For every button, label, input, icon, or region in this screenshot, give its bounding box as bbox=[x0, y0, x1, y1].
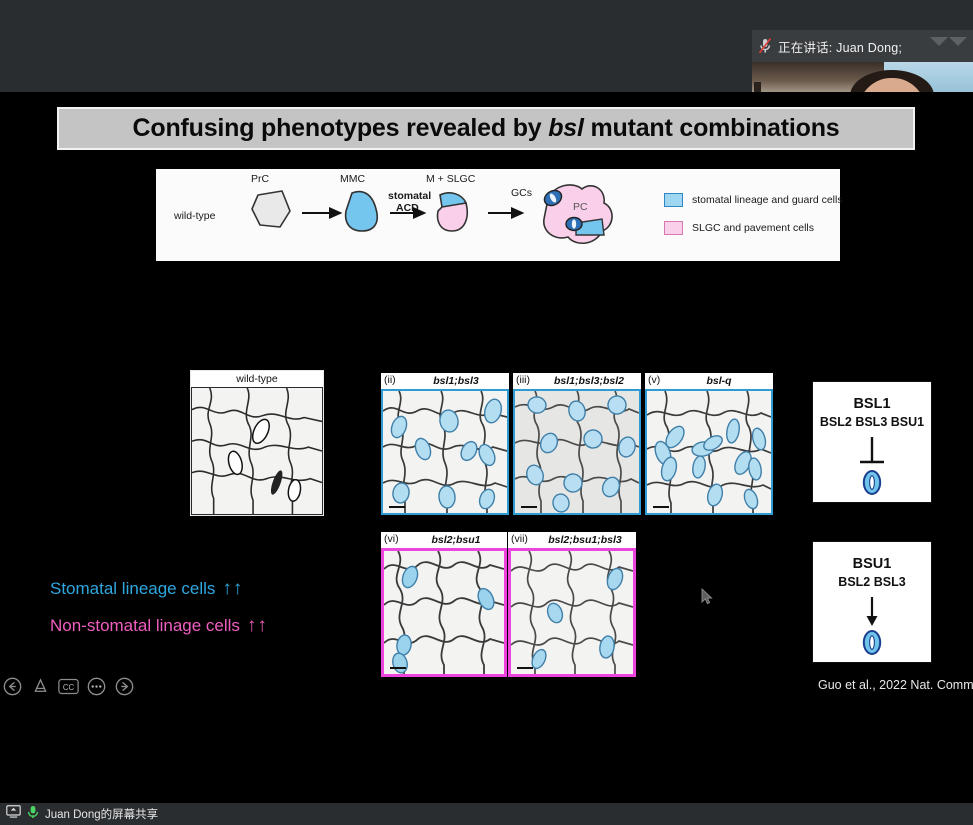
legend-label-stomatal: stomatal lineage and guard cells bbox=[692, 194, 843, 206]
mouse-pointer-icon bbox=[701, 588, 714, 611]
cell-network-drawing bbox=[384, 551, 504, 677]
scale-bar bbox=[390, 667, 406, 669]
chevron-collapse-icon[interactable] bbox=[930, 30, 967, 62]
micrograph-image-vii bbox=[508, 548, 636, 677]
bullet-text-nonstomatal: Non-stomatal linage cells bbox=[50, 616, 240, 635]
pen-annotation-icon[interactable] bbox=[30, 676, 51, 697]
legend-swatch-stomatal bbox=[664, 193, 683, 207]
cell-network-drawing bbox=[192, 388, 322, 514]
micrograph-genotype-vii: bsl2;bsu1;bsl3 bbox=[508, 534, 636, 546]
presentation-controls: CC bbox=[2, 676, 135, 697]
legend-label-slgc: SLGC and pavement cells bbox=[692, 222, 814, 234]
slide-title-prefix: Confusing phenotypes revealed by bbox=[133, 114, 549, 142]
active-speaker-label: 正在讲话: Juan Dong; bbox=[778, 37, 902, 56]
micrograph-image-iii bbox=[513, 389, 641, 515]
micrograph-image-v bbox=[645, 389, 773, 515]
cell-network-drawing bbox=[383, 391, 507, 515]
micrograph-caption-wild-type: wild-type bbox=[191, 371, 323, 387]
inhibition-arrow-icon bbox=[852, 435, 892, 469]
scale-bar bbox=[517, 667, 533, 669]
schematic-pc-label: PC bbox=[573, 201, 588, 213]
schematic-cell-shapes bbox=[156, 169, 840, 261]
slide-title-italic: bsl bbox=[548, 114, 584, 142]
slide-title-suffix: mutant combinations bbox=[584, 114, 840, 142]
micrograph-panel-ii[interactable]: (ii) bsl1;bsl3 bbox=[381, 373, 509, 515]
micrograph-caption-vii: (vii) bsl2;bsu1;bsl3 bbox=[508, 532, 636, 548]
pathway-box-bsu1: BSU1 BSL2 BSL3 bbox=[812, 541, 932, 663]
micrograph-panel-v[interactable]: (v) bsl-q bbox=[645, 373, 773, 515]
taskbar-label: Juan Dong的屏幕共享 bbox=[45, 806, 158, 822]
micrograph-genotype-wild-type: wild-type bbox=[191, 373, 323, 385]
arrow-right-circle-icon[interactable] bbox=[114, 676, 135, 697]
bullet-text-stomatal: Stomatal lineage cells bbox=[50, 579, 215, 598]
stomatal-development-schematic: wild-type PrC MMC M + SLGC GCs stomatal … bbox=[156, 169, 840, 261]
pathway-label-primary-2: BSU1 bbox=[853, 556, 892, 572]
micrograph-image-vi bbox=[381, 548, 507, 677]
micrograph-image-ii bbox=[381, 389, 509, 515]
pathway-box-bsl1: BSL1 BSL2 BSL3 BSU1 bbox=[812, 381, 932, 503]
micrograph-caption-iii: (iii) bsl1;bsl3;bsl2 bbox=[513, 373, 641, 389]
closed-captions-icon[interactable]: CC bbox=[58, 676, 79, 697]
micrograph-genotype-vi: bsl2;bsu1 bbox=[381, 534, 507, 546]
pathway-label-primary-1: BSL1 bbox=[853, 396, 890, 412]
scale-bar bbox=[521, 506, 537, 508]
pathway-label-secondary-1: BSL2 BSL3 BSU1 bbox=[820, 415, 924, 429]
micrograph-genotype-v: bsl-q bbox=[645, 375, 773, 387]
micrograph-panel-vi[interactable]: (vi) bsl2;bsu1 bbox=[381, 532, 507, 677]
bullet-arrows-nonstomatal: ↑↑ bbox=[240, 615, 268, 636]
scale-bar bbox=[653, 506, 669, 508]
cell-network-drawing bbox=[515, 391, 639, 515]
micrograph-caption-ii: (ii) bsl1;bsl3 bbox=[381, 373, 509, 389]
micrograph-panel-wild-type[interactable]: wild-type bbox=[190, 370, 324, 516]
svg-text:CC: CC bbox=[63, 683, 75, 692]
arrow-left-circle-icon[interactable] bbox=[2, 676, 23, 697]
more-options-icon[interactable] bbox=[86, 676, 107, 697]
bullet-stomatal-lineage: Stomatal lineage cells↑↑ bbox=[50, 578, 243, 600]
cell-network-drawing bbox=[647, 391, 771, 515]
stomate-icon bbox=[862, 629, 882, 656]
mic-muted-icon bbox=[752, 30, 778, 62]
pathway-label-secondary-2: BSL2 BSL3 bbox=[838, 575, 905, 589]
micrograph-image-wild-type bbox=[191, 387, 323, 515]
taskbar: Juan Dong的屏幕共享 bbox=[0, 803, 973, 825]
micrograph-panel-iii[interactable]: (iii) bsl1;bsl3;bsl2 bbox=[513, 373, 641, 515]
bullet-non-stomatal-lineage: Non-stomatal linage cells↑↑ bbox=[50, 615, 268, 637]
slide-letterbox-bottom bbox=[0, 740, 973, 803]
page-title: Confusing phenotypes revealed by bsl mut… bbox=[133, 114, 840, 143]
legend-swatch-slgc bbox=[664, 221, 683, 235]
micrograph-genotype-ii: bsl1;bsl3 bbox=[381, 375, 509, 387]
bullet-arrows-stomatal: ↑↑ bbox=[215, 578, 243, 599]
cell-network-drawing bbox=[511, 551, 633, 677]
active-speaker-bar: 正在讲话: Juan Dong; bbox=[752, 30, 973, 62]
microphone-icon[interactable] bbox=[27, 805, 39, 824]
micrograph-caption-vi: (vi) bsl2;bsu1 bbox=[381, 532, 507, 548]
micrograph-caption-v: (v) bsl-q bbox=[645, 373, 773, 389]
screen-share-icon[interactable] bbox=[6, 805, 21, 823]
promotion-arrow-icon bbox=[852, 595, 892, 629]
stomate-icon bbox=[862, 469, 882, 496]
scale-bar bbox=[389, 506, 405, 508]
micrograph-genotype-iii: bsl1;bsl3;bsl2 bbox=[513, 375, 641, 387]
slide-title-box: Confusing phenotypes revealed by bsl mut… bbox=[57, 107, 915, 150]
micrograph-panel-vii[interactable]: (vii) bsl2;bsu1;bsl3 bbox=[508, 532, 636, 677]
citation-text: Guo et al., 2022 Nat. Comms. bbox=[818, 678, 973, 692]
